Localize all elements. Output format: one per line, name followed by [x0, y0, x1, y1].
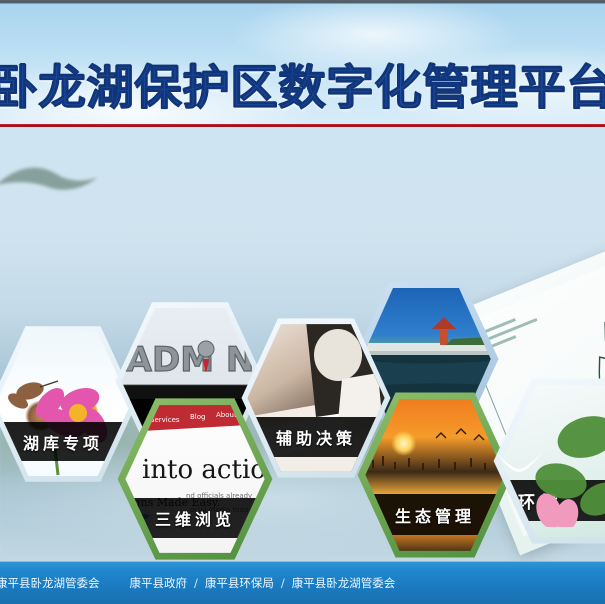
footer-links: 康平县政府 / 康平县环保局 / 康平县卧龙湖管委会: [130, 575, 396, 591]
svg-text:Blog: Blog: [190, 413, 205, 421]
application-root: 卧龙湖保护区数字化管理平台: [0, 0, 605, 604]
svg-text:ADM N: ADM N: [126, 340, 255, 380]
flying-bird-icon: [0, 159, 102, 205]
footer-link-government[interactable]: 康平县政府: [130, 575, 188, 591]
page-footer: 康平县卧龙湖管委会 康平县政府 / 康平县环保局 / 康平县卧龙湖管委会: [0, 561, 605, 604]
hero-stage: 湖库专项 ADM N 综合管理: [0, 127, 605, 561]
footer-owner: 康平县卧龙湖管委会: [0, 575, 100, 591]
footer-link-environmental-bureau[interactable]: 康平县环保局: [205, 575, 274, 591]
lotus-flower-icon: [491, 415, 605, 527]
page-header: 卧龙湖保护区数字化管理平台: [0, 4, 605, 125]
footer-separator-2: /: [281, 576, 285, 590]
footer-separator-1: /: [194, 576, 198, 590]
footer-row: 康平县卧龙湖管委会 康平县政府 / 康平县环保局 / 康平县卧龙湖管委会: [0, 574, 605, 592]
svg-text:into action: into action: [142, 455, 266, 485]
svg-text:Services: Services: [150, 416, 180, 424]
page-title: 卧龙湖保护区数字化管理平台: [0, 52, 605, 114]
footer-link-wolonghu-committee[interactable]: 康平县卧龙湖管委会: [292, 575, 396, 591]
